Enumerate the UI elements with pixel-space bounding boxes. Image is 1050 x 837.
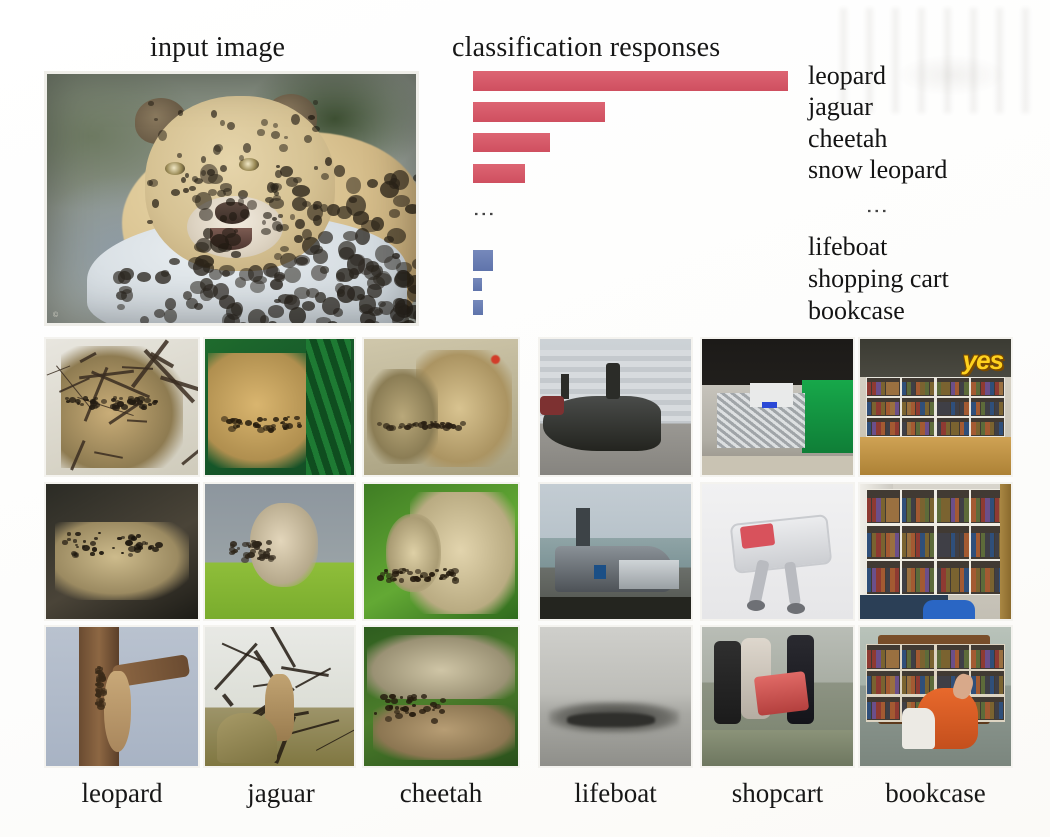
bar-cheetah [473,133,550,152]
thumbnail-lifeboat-3 [538,625,693,768]
class-label-jaguar: jaguar [808,92,873,122]
thumbnail-cheetah-2 [362,482,520,621]
class-label-lifeboat: lifeboat [808,232,887,262]
thumbnail-leopard-1 [44,337,200,477]
bar-leopard [473,71,788,91]
class-label-cheetah: cheetah [808,124,887,154]
bar-bookcase [473,300,483,315]
photo-credit-text: © [53,312,58,319]
bar-lifeboat [473,250,493,271]
caption-lifeboat: lifeboat [538,778,693,809]
thumbnail-bookcase-1: yes [858,337,1013,477]
thumbnail-jaguar-2 [203,482,356,621]
thumbnail-leopard-3 [44,625,200,768]
classification-response-bar-chart [473,64,813,324]
input-image-photo: © [44,71,419,326]
thumbnail-jaguar-1 [203,337,356,477]
page-title-input-image: input image [150,32,285,64]
thumbnail-shopcart-2 [700,482,855,621]
bars-ellipsis-icon: ⋮ [480,203,489,225]
class-label-leopard: leopard [808,61,886,91]
thumbnail-jaguar-3 [203,625,356,768]
class-label-snow-leopard: snow leopard [808,155,947,185]
background-watermark-glow [896,55,1006,95]
caption-leopard: leopard [44,778,200,809]
bar-shopping-cart [473,278,482,291]
bar-snow-leopard [473,164,525,183]
thumbnail-cheetah-3 [362,625,520,768]
yes-badge: yes [963,345,1003,376]
thumbnail-lifeboat-2 [538,482,693,621]
caption-shopcart: shopcart [700,778,855,809]
caption-cheetah: cheetah [362,778,520,809]
thumbnail-bookcase-3 [858,625,1013,768]
thumbnail-shopcart-1 [700,337,855,477]
thumbnail-shopcart-3 [700,625,855,768]
photo-vignette [47,74,416,323]
class-label-shopping-cart: shopping cart [808,264,949,294]
thumbnail-lifeboat-1 [538,337,693,477]
thumbnail-leopard-2 [44,482,200,621]
thumbnail-bookcase-2 [858,482,1013,621]
bar-jaguar [473,102,605,122]
class-label-bookcase: bookcase [808,296,905,326]
caption-jaguar: jaguar [203,778,359,809]
page-title-classification-responses: classification responses [452,32,720,64]
labels-ellipsis-icon: ⋮ [873,200,882,222]
caption-bookcase: bookcase [858,778,1013,809]
thumbnail-cheetah-1 [362,337,520,477]
